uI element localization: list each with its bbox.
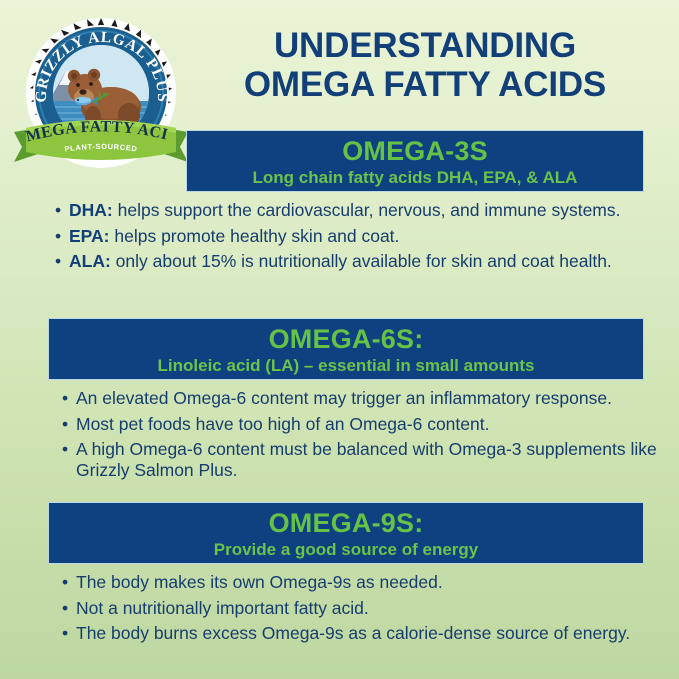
list-item-text: Not a nutritionally important fatty acid… xyxy=(76,598,657,619)
list-item: •Most pet foods have too high of an Omeg… xyxy=(62,414,657,435)
section-heading-omega3: OMEGA-3S xyxy=(191,136,639,167)
bullet-marker-icon: • xyxy=(55,226,69,247)
bullet-marker-icon: • xyxy=(55,251,69,272)
omega-fatty-acids-infographic: GRIZZLY ALGAL PLUS OMEGA FATTY ACIDS PLA… xyxy=(0,0,679,679)
page-title-line-2: OMEGA FATTY ACIDS xyxy=(190,65,660,104)
list-item-text: A high Omega-6 content must be balanced … xyxy=(76,439,657,480)
page-title-line-1: UNDERSTANDING xyxy=(190,26,660,65)
bullet-marker-icon: • xyxy=(62,572,76,593)
list-item-text: EPA: helps promote healthy skin and coat… xyxy=(69,226,655,247)
list-item-term: DHA: xyxy=(69,200,113,220)
list-item: •An elevated Omega-6 content may trigger… xyxy=(62,388,657,409)
brand-logo: GRIZZLY ALGAL PLUS OMEGA FATTY ACIDS PLA… xyxy=(12,18,190,170)
list-item-term: EPA: xyxy=(69,226,110,246)
section-header-omega9: OMEGA-9S: Provide a good source of energ… xyxy=(48,502,644,564)
list-item: •ALA: only about 15% is nutritionally av… xyxy=(55,251,655,272)
list-item-text: The body makes its own Omega-9s as neede… xyxy=(76,572,657,593)
bullet-list-omega6: •An elevated Omega-6 content may trigger… xyxy=(62,388,657,486)
list-item: •The body makes its own Omega-9s as need… xyxy=(62,572,657,593)
bullet-marker-icon: • xyxy=(62,623,76,644)
bullet-marker-icon: • xyxy=(62,598,76,619)
bullet-marker-icon: • xyxy=(62,439,76,460)
list-item: •EPA: helps promote healthy skin and coa… xyxy=(55,226,655,247)
list-item: •The body burns excess Omega-9s as a cal… xyxy=(62,623,657,644)
section-heading-omega6: OMEGA-6S: xyxy=(53,324,639,355)
bullet-marker-icon: • xyxy=(55,200,69,221)
bullet-marker-icon: • xyxy=(62,414,76,435)
list-item-text: An elevated Omega-6 content may trigger … xyxy=(76,388,657,409)
bullet-marker-icon: • xyxy=(62,388,76,409)
list-item: •A high Omega-6 content must be balanced… xyxy=(62,439,657,480)
section-header-omega3: OMEGA-3S Long chain fatty acids DHA, EPA… xyxy=(186,130,644,192)
section-subheading-omega3: Long chain fatty acids DHA, EPA, & ALA xyxy=(191,168,639,188)
list-item: •Not a nutritionally important fatty aci… xyxy=(62,598,657,619)
section-header-omega6: OMEGA-6S: Linoleic acid (LA) – essential… xyxy=(48,318,644,380)
list-item-text: DHA: helps support the cardiovascular, n… xyxy=(69,200,655,221)
list-item-term: ALA: xyxy=(69,251,111,271)
list-item-text: Most pet foods have too high of an Omega… xyxy=(76,414,657,435)
section-heading-omega9: OMEGA-9S: xyxy=(53,508,639,539)
list-item-text: ALA: only about 15% is nutritionally ava… xyxy=(69,251,655,272)
seal-ribbon: OMEGA FATTY ACIDS PLANT-SOURCED xyxy=(12,114,190,170)
list-item: •DHA: helps support the cardiovascular, … xyxy=(55,200,655,221)
page-title: UNDERSTANDING OMEGA FATTY ACIDS xyxy=(190,26,660,104)
bullet-list-omega9: •The body makes its own Omega-9s as need… xyxy=(62,572,657,649)
section-subheading-omega6: Linoleic acid (LA) – essential in small … xyxy=(53,356,639,376)
list-item-text: The body burns excess Omega-9s as a calo… xyxy=(76,623,657,644)
section-subheading-omega9: Provide a good source of energy xyxy=(53,540,639,560)
bullet-list-omega3: •DHA: helps support the cardiovascular, … xyxy=(55,200,655,277)
